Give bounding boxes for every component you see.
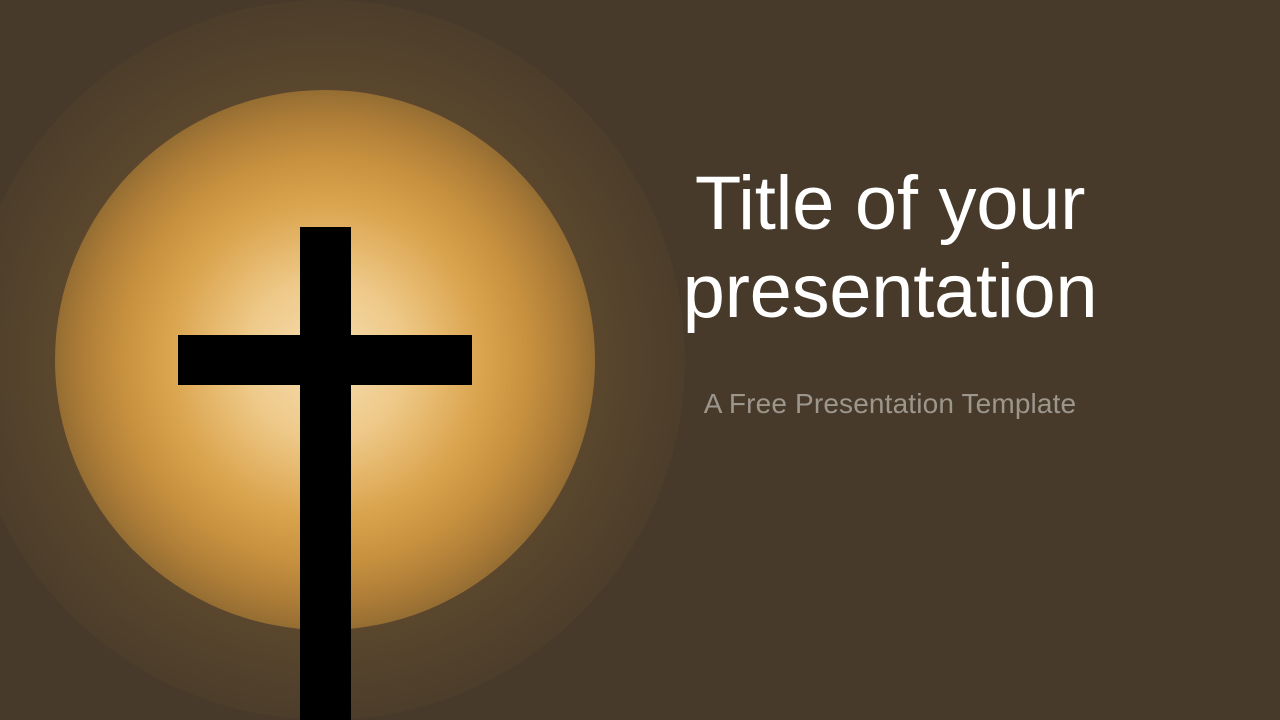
slide-subtitle: A Free Presentation Template <box>640 336 1140 421</box>
cross-artwork <box>0 0 640 720</box>
slide-title: Title of your presentation <box>640 160 1140 336</box>
presentation-slide: Title of your presentation A Free Presen… <box>0 0 1280 720</box>
title-text-block: Title of your presentation A Free Presen… <box>640 160 1140 421</box>
cross-vertical-beam <box>300 227 351 720</box>
cross-horizontal-beam <box>178 335 472 385</box>
